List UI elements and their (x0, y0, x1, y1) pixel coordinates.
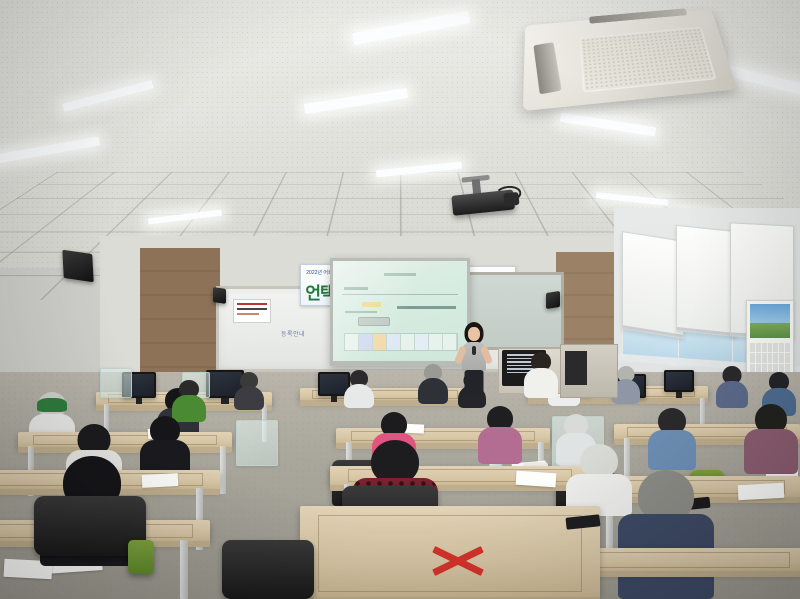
handout-paper (142, 473, 179, 488)
student-headscarf (37, 398, 67, 412)
calendar-photo (750, 304, 790, 338)
student-head (580, 444, 618, 478)
student (618, 470, 714, 599)
student-body (418, 378, 448, 404)
student (418, 364, 448, 404)
student-chair[interactable] (222, 540, 314, 599)
student (344, 370, 374, 408)
roller-blind-1[interactable] (622, 231, 684, 339)
roller-blind-2[interactable] (676, 225, 736, 337)
student (478, 406, 522, 464)
student (234, 372, 264, 410)
student (744, 404, 798, 474)
staff-body (524, 368, 558, 398)
student-body (478, 427, 522, 464)
posted-notice (233, 299, 271, 323)
wall-speaker-center-right (546, 291, 560, 309)
student (648, 408, 696, 470)
student-body (234, 386, 264, 410)
desk-leg (180, 540, 188, 599)
desktop-monitor (664, 370, 694, 392)
projection-screen (330, 258, 470, 366)
student-body (648, 430, 696, 470)
student-desk (576, 548, 800, 572)
handout-paper (738, 483, 785, 500)
instructor-legs (465, 370, 484, 396)
staff-member (524, 352, 558, 398)
instructor (452, 322, 496, 396)
desk-leg (220, 446, 226, 494)
distancing-x-marker (432, 541, 484, 581)
microphone (472, 346, 476, 355)
wood-wall-panel-left (140, 248, 220, 380)
whiteboard-handwriting-4: 등록안내 (281, 329, 305, 338)
acrylic-partition (236, 420, 278, 466)
projected-web-form (333, 261, 467, 361)
air-conditioner-grille (580, 26, 717, 93)
instructor-face (468, 327, 480, 341)
student (716, 366, 748, 408)
acrylic-partition (100, 368, 132, 398)
av-equipment-rack (560, 344, 618, 398)
wall-speaker-left (62, 250, 93, 282)
air-conditioner-vane-left (533, 42, 561, 95)
wall-speaker-center-left (213, 287, 226, 304)
classroom-photo: 정보화 교육 접수 9/7 등록안내 2022년 어르신 언택 과정 (0, 0, 800, 599)
student-desk (18, 432, 232, 448)
handout-paper (516, 471, 557, 488)
student-chair[interactable] (128, 540, 154, 574)
student-body (344, 384, 374, 408)
student-body (744, 429, 798, 474)
